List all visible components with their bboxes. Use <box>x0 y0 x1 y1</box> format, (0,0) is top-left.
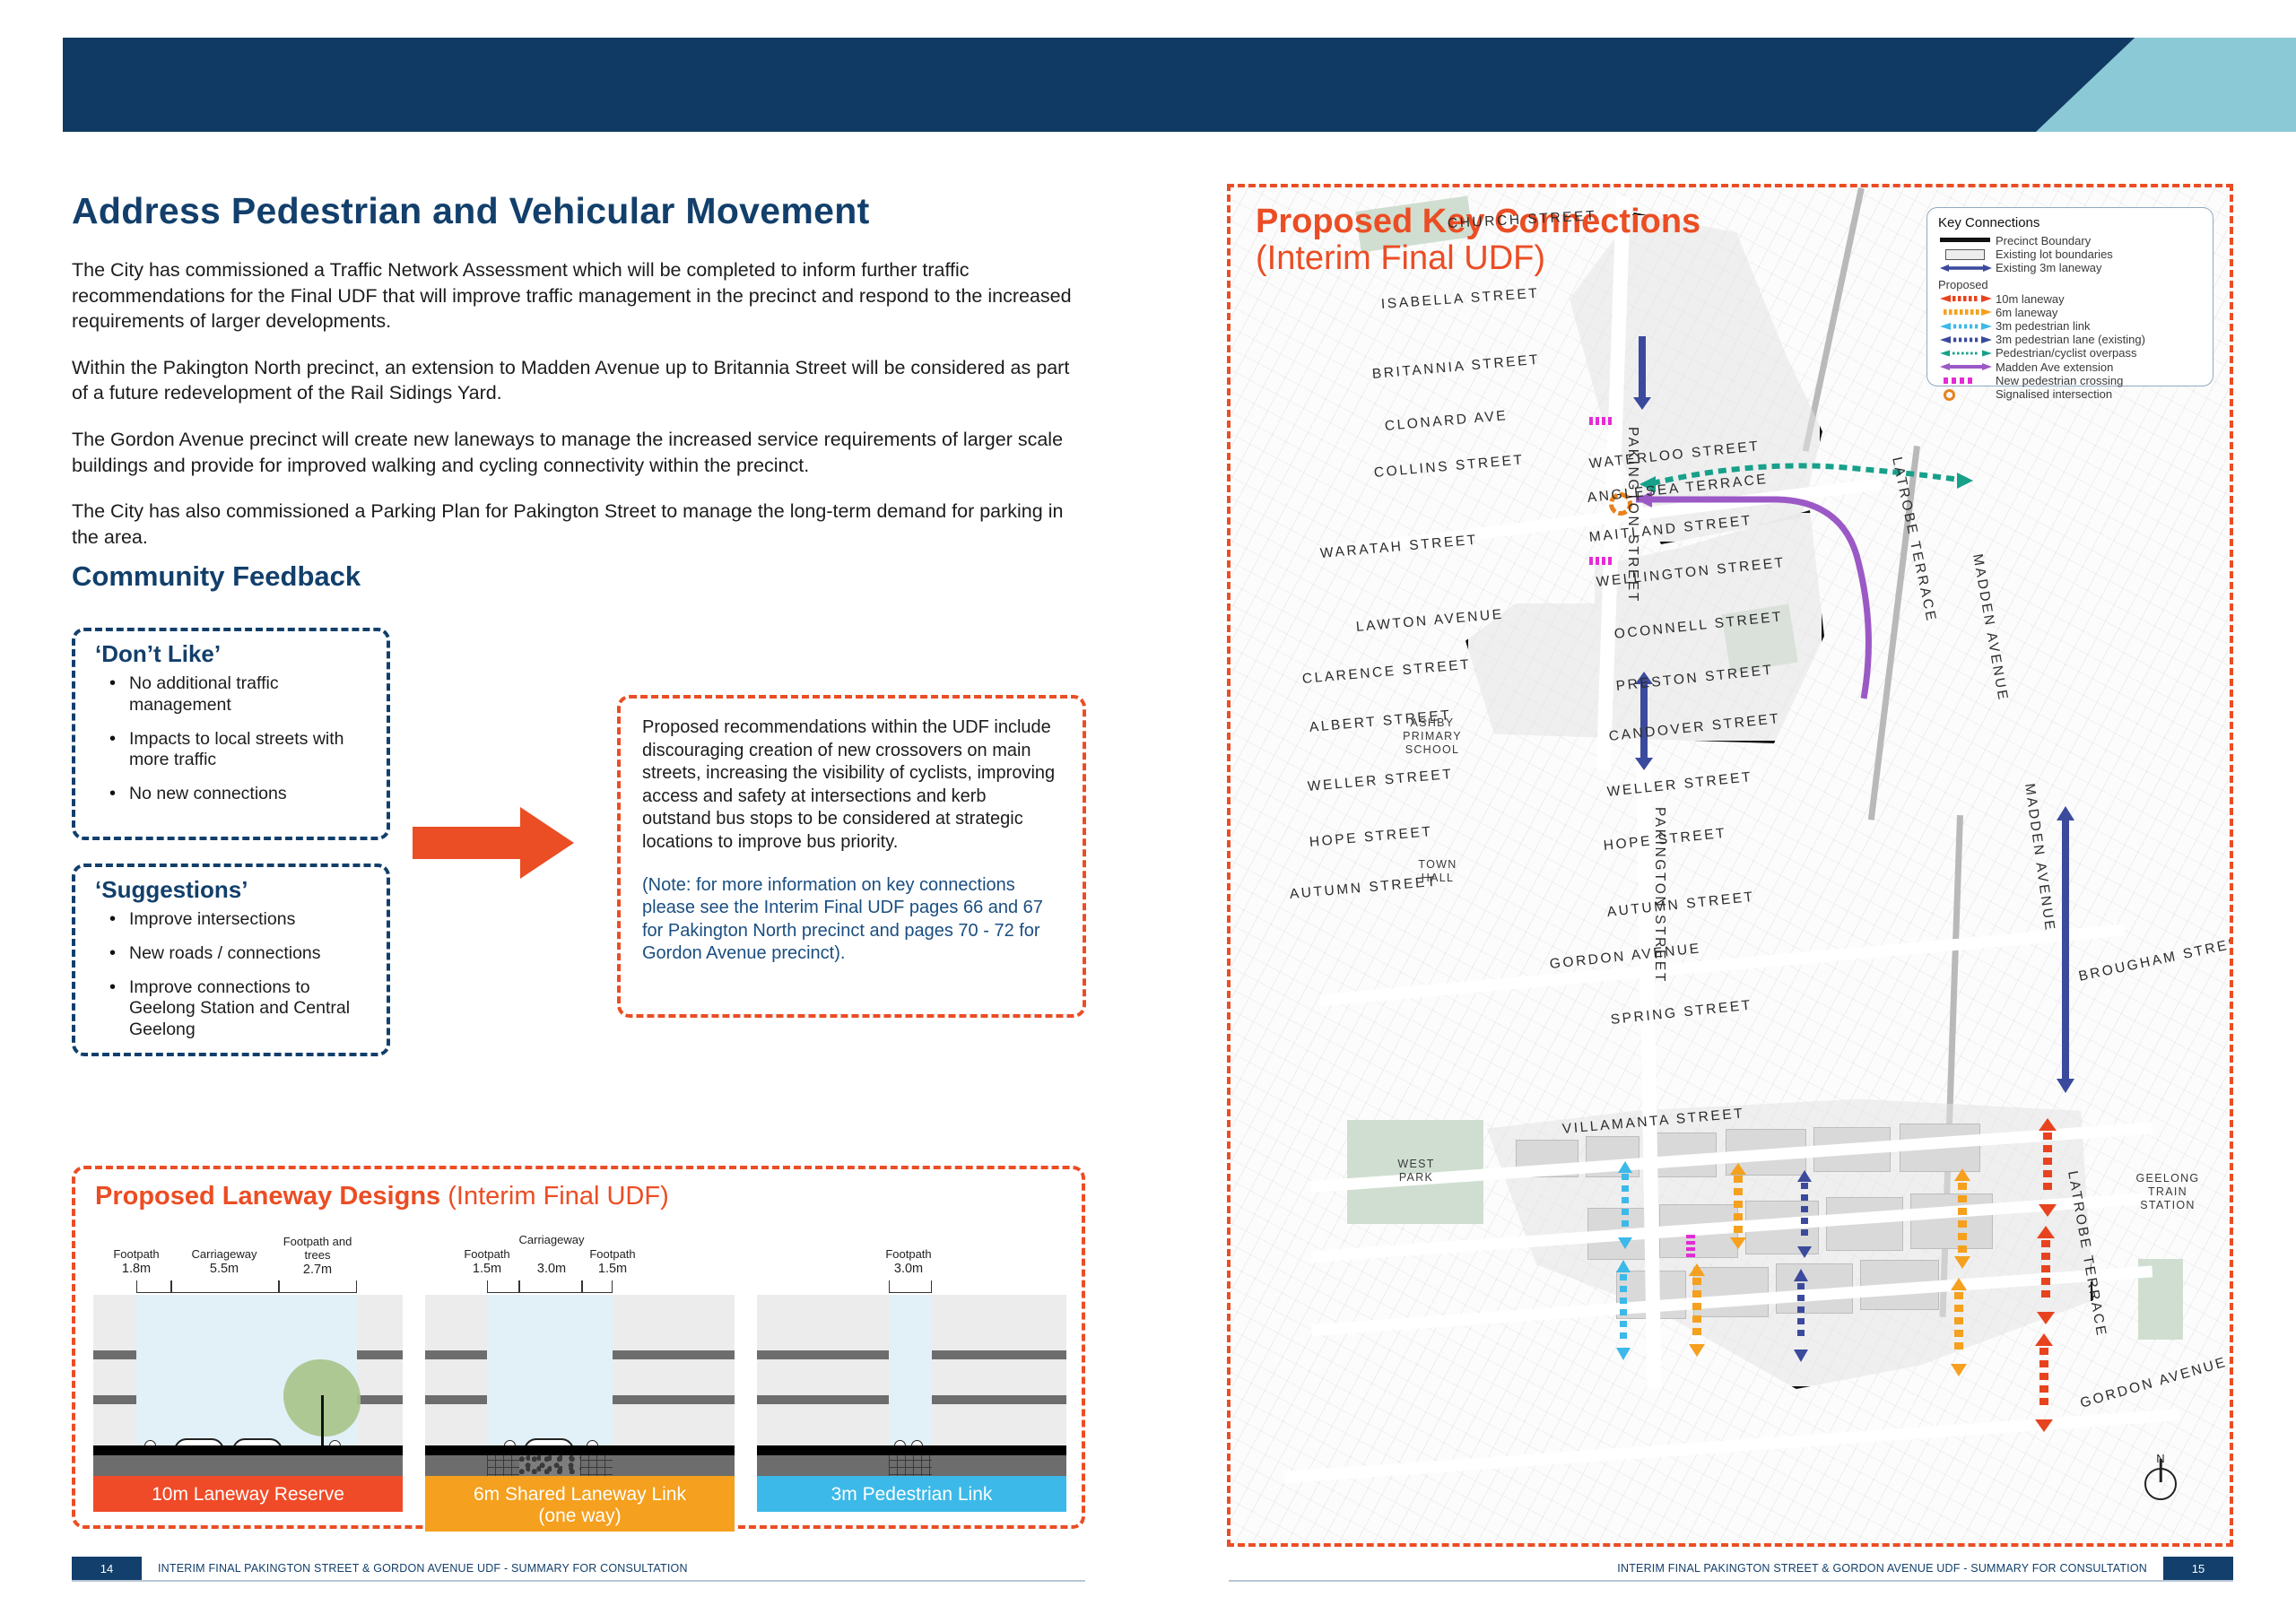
10m-laneway-route <box>2036 1226 2056 1324</box>
list-item: Improve intersections <box>108 909 376 931</box>
legend-label: 3m pedestrian lane (existing) <box>1996 333 2145 346</box>
laneway-panel-title: Proposed Laneway Designs (Interim Final … <box>95 1182 669 1211</box>
6m-laneway-icon <box>1938 306 1996 319</box>
dimension-tick <box>170 1280 172 1293</box>
place-label-geelong-train-station: GEELONG TRAIN STATION <box>2135 1172 2201 1212</box>
legend-title: Key Connections <box>1938 215 2204 230</box>
map-legend: Key Connections Precinct Boundary Existi… <box>1926 207 2213 386</box>
paragraph-2: Within the Pakington North precinct, an … <box>72 355 1081 406</box>
building-right <box>357 1295 403 1445</box>
cross-section-10m: Footpath 1.8m Carriageway 5.5m Footpath … <box>93 1232 403 1510</box>
place-label-town-hall: TOWN HALL <box>1406 858 1469 885</box>
floor-line <box>757 1350 889 1359</box>
section-drawing <box>93 1295 403 1474</box>
precinct-boundary-icon <box>1938 234 1996 247</box>
dim-value: 1.5m <box>454 1262 520 1277</box>
legend-label: New pedestrian crossing <box>1996 374 2123 387</box>
footer-left: 14 INTERIM FINAL PAKINGTON STREET & GORD… <box>72 1557 1085 1580</box>
legend-subheading: Proposed <box>1938 278 2204 291</box>
floor-line <box>93 1350 136 1359</box>
list-item: No additional traffic management <box>108 673 376 716</box>
community-feedback-heading: Community Feedback <box>72 560 361 593</box>
dim-value: 2.7m <box>278 1263 357 1278</box>
building-right <box>932 1295 1066 1445</box>
legend-label: Signalised intersection <box>1996 387 2112 401</box>
10m-laneway-icon <box>1938 292 1996 306</box>
legend-label: Pedestrian/cyclist overpass <box>1996 346 2137 360</box>
existing-3m-laneway-route <box>1632 329 1652 410</box>
legend-row: Existing lot boundaries <box>1938 247 2204 261</box>
dim-value: 1.8m <box>102 1262 170 1277</box>
building-lot <box>1910 1193 1993 1249</box>
legend-row: 10m laneway <box>1938 292 2204 306</box>
north-arrow-icon: N <box>2135 1452 2187 1515</box>
north-ring <box>2144 1468 2177 1500</box>
10m-laneway-route <box>2034 1333 2054 1432</box>
key-connections-map: Proposed Key Connections (Interim Final … <box>1227 184 2233 1547</box>
legend-row: Pedestrian/cyclist overpass <box>1938 346 2204 360</box>
dimension-bar <box>136 1280 357 1293</box>
legend-label: 3m pedestrian link <box>1996 319 2091 333</box>
dim-name: Footpath <box>868 1248 949 1262</box>
new-pedestrian-crossing-marker <box>1686 1235 1695 1260</box>
6m-laneway-route <box>1729 1163 1747 1249</box>
page-title: Address Pedestrian and Vehicular Movemen… <box>72 190 1058 232</box>
list-item: Improve connections to Geelong Station a… <box>108 977 376 1041</box>
dimension-bar <box>487 1280 613 1293</box>
dim-name: Footpath <box>102 1248 170 1262</box>
dimension-tick <box>581 1280 583 1293</box>
list-item: No new connections <box>108 784 376 805</box>
floor-line <box>425 1350 487 1359</box>
legend-label: 10m laneway <box>1996 292 2065 306</box>
6m-laneway-route <box>1953 1168 1971 1269</box>
arrow-head <box>520 807 574 879</box>
legend-label: Existing lot boundaries <box>1996 247 2113 261</box>
dimension-labels: Footpath 1.8m Carriageway 5.5m Footpath … <box>93 1232 403 1280</box>
madden-ave-extension-icon <box>1938 360 1996 374</box>
paragraph-4: The City has also commissioned a Parking… <box>72 499 1081 550</box>
floor-line <box>613 1395 735 1404</box>
map-title-light: (Interim Final UDF) <box>1256 239 1545 277</box>
laneway-designs-panel: Proposed Laneway Designs (Interim Final … <box>72 1166 1085 1529</box>
footer-text-right: INTERIM FINAL PAKINGTON STREET & GORDON … <box>1617 1557 2147 1580</box>
laneway-title-bold: Proposed Laneway Designs <box>95 1182 440 1211</box>
recommendation-note: (Note: for more information on key conne… <box>642 874 1059 966</box>
paragraph-3: The Gordon Avenue precinct will create n… <box>72 427 1081 478</box>
place-label-ashby-primary-school: ASHBY PRIMARY SCHOOL <box>1392 716 1473 757</box>
laneway-title-light: (Interim Final UDF) <box>448 1182 669 1211</box>
dim-value: 3.0m <box>520 1262 583 1277</box>
floor-line <box>932 1395 1066 1404</box>
dim-value: 3.0m <box>868 1262 949 1277</box>
existing-3m-laneway-route <box>2056 806 2075 1093</box>
new-pedestrian-crossing-marker <box>1589 557 1613 565</box>
arrow-shaft <box>413 827 525 859</box>
legend-row: 6m laneway <box>1938 306 2204 319</box>
3m-pedestrian-lane-existing-route <box>1796 1170 1813 1258</box>
street-label: PAKINGTON STREET <box>1651 807 1667 984</box>
floor-line <box>425 1395 487 1404</box>
legend-row: New pedestrian crossing <box>1938 374 2204 387</box>
building-left <box>93 1295 136 1445</box>
legend-row: Signalised intersection <box>1938 387 2204 401</box>
legend-label: Precinct Boundary <box>1996 234 2091 247</box>
6m-laneway-route <box>1950 1278 1968 1376</box>
legend-row: Precinct Boundary <box>1938 234 2204 247</box>
new-pedestrian-crossing-icon <box>1938 374 1996 387</box>
cross-section-3m: Footpath 3.0m <box>757 1232 1066 1510</box>
floor-line <box>357 1350 403 1359</box>
pedestrian-cyclist-overpass-icon <box>1938 346 1996 360</box>
6m-laneway-route <box>1688 1263 1706 1357</box>
legend-label: 6m laneway <box>1996 306 2057 319</box>
page-number-right: 15 <box>2163 1557 2233 1580</box>
footer-rule <box>72 1580 1085 1582</box>
dimension-bar <box>889 1280 932 1293</box>
10m-laneway-route <box>2038 1118 2057 1217</box>
floor-line <box>357 1395 403 1404</box>
recommendation-body: Proposed recommendations within the UDF … <box>642 716 1059 855</box>
floor-line <box>93 1395 136 1404</box>
dimension-labels: Carriageway Footpath 1.5m 3.0m Footpath … <box>425 1232 735 1280</box>
footer-right: 15 INTERIM FINAL PAKINGTON STREET & GORD… <box>1229 1557 2233 1580</box>
document-page: Address Pedestrian and Vehicular Movemen… <box>0 0 2296 1623</box>
building-right <box>613 1295 735 1445</box>
caption-main: 6m Shared Laneway Link <box>474 1484 686 1505</box>
page-number-left: 14 <box>72 1557 142 1580</box>
3m-pedestrian-link-route <box>1616 1161 1634 1249</box>
place-label-west-park: WEST PARK <box>1385 1158 1448 1185</box>
recommendation-box: Proposed recommendations within the UDF … <box>617 695 1086 1018</box>
intro-body-copy: The City has commissioned a Traffic Netw… <box>72 257 1081 570</box>
3m-pedestrian-link-icon <box>1938 319 1996 333</box>
lot-boundary-icon <box>1938 247 1996 261</box>
dim-name: Carriageway <box>502 1234 601 1247</box>
legend-row: Existing 3m laneway <box>1938 261 2204 274</box>
ground-line <box>425 1445 735 1455</box>
pedestrian-link-space <box>889 1295 932 1445</box>
section-drawing <box>425 1295 735 1474</box>
floor-line <box>757 1395 889 1404</box>
dim-value: 5.5m <box>170 1262 278 1277</box>
new-pedestrian-crossing-marker <box>1589 417 1613 425</box>
left-page: Address Pedestrian and Vehicular Movemen… <box>0 0 1206 1623</box>
list-item: New roads / connections <box>108 943 376 965</box>
footer-text-left: INTERIM FINAL PAKINGTON STREET & GORDON … <box>158 1557 688 1580</box>
section-drawing <box>757 1295 1066 1474</box>
section-caption-10m: 10m Laneway Reserve <box>93 1476 403 1512</box>
section-caption-6m: 6m Shared Laneway Link (one way) <box>425 1476 735 1532</box>
feedback-box-suggestions: ‘Suggestions’ Improve intersections New … <box>72 864 390 1056</box>
right-arrow-icon <box>413 807 596 879</box>
suggestions-title: ‘Suggestions’ <box>95 876 387 904</box>
ground-line <box>93 1445 403 1455</box>
existing-3m-laneway-icon <box>1938 261 1996 274</box>
legend-label: Madden Ave extension <box>1996 360 2113 374</box>
dim-name: Carriageway <box>170 1248 278 1262</box>
street-label: PAKINGTON STREET <box>1624 427 1640 603</box>
dim-name: Footpath <box>454 1248 520 1262</box>
3m-pedestrian-lane-existing-route <box>1792 1269 1810 1362</box>
footer-rule <box>1229 1580 2233 1582</box>
legend-label: Existing 3m laneway <box>1996 261 2102 274</box>
caption-sub: (one way) <box>538 1506 621 1526</box>
dimension-tick <box>278 1280 280 1293</box>
dimension-labels: Footpath 3.0m <box>757 1232 1066 1280</box>
dim-value: 1.5m <box>579 1262 646 1277</box>
signalised-intersection-icon <box>1938 387 1996 401</box>
3m-pedestrian-link-route <box>1614 1260 1632 1360</box>
cross-section-6m: Carriageway Footpath 1.5m 3.0m Footpath … <box>425 1232 735 1510</box>
tree-trunk-icon <box>321 1395 324 1445</box>
list-item: Impacts to local streets with more traff… <box>108 729 376 772</box>
suggestions-list: Improve intersections New roads / connec… <box>108 909 376 1041</box>
paragraph-1: The City has commissioned a Traffic Netw… <box>72 257 1081 334</box>
dont-like-title: ‘Don’t Like’ <box>95 640 387 668</box>
dont-like-list: No additional traffic management Impacts… <box>108 673 376 805</box>
dim-name: Footpath <box>579 1248 646 1262</box>
legend-row: Madden Ave extension <box>1938 360 2204 374</box>
dim-name: Footpath and trees <box>278 1236 357 1263</box>
feedback-box-dont-like: ‘Don’t Like’ No additional traffic manag… <box>72 628 390 840</box>
3m-pedestrian-lane-existing-icon <box>1938 333 1996 346</box>
building-left <box>757 1295 889 1445</box>
building-left <box>425 1295 487 1445</box>
floor-line <box>613 1350 735 1359</box>
laneway-space <box>487 1295 613 1445</box>
ground-line <box>757 1445 1066 1455</box>
section-caption-3m: 3m Pedestrian Link <box>757 1476 1066 1512</box>
dimension-tick <box>518 1280 520 1293</box>
floor-line <box>932 1350 1066 1359</box>
legend-row: 3m pedestrian link <box>1938 319 2204 333</box>
legend-row: 3m pedestrian lane (existing) <box>1938 333 2204 346</box>
